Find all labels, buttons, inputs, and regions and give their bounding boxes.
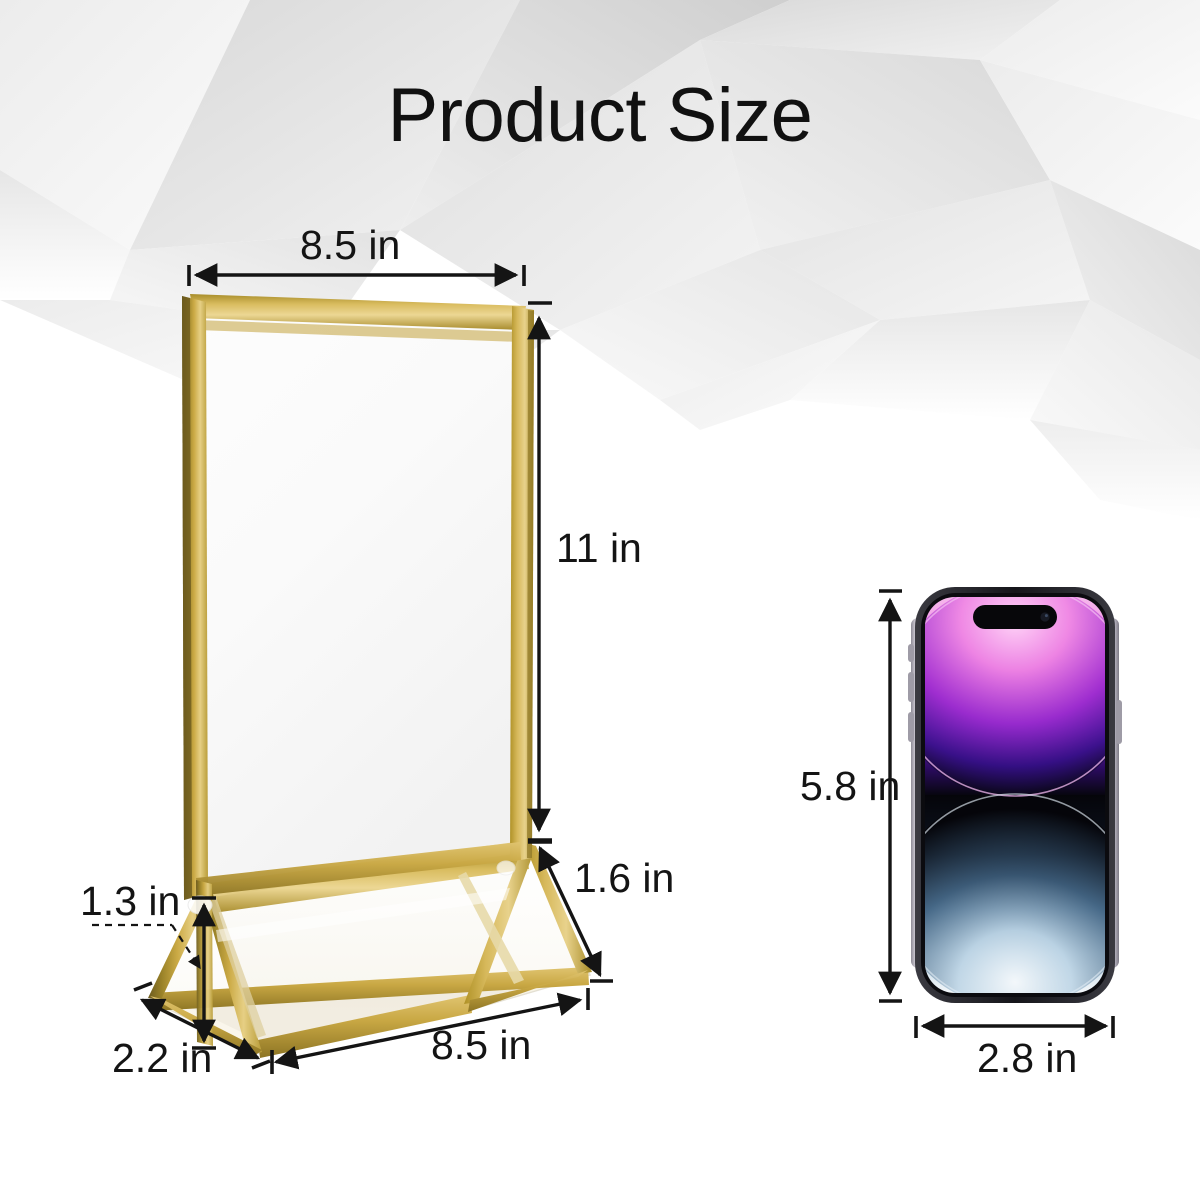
frame-right-rail-edge <box>527 310 534 858</box>
phone-button-power <box>1116 700 1122 744</box>
dimension-label-phone-height: 5.8 in <box>800 763 900 810</box>
dimension-label-frame-height: 11 in <box>556 525 642 572</box>
wallpaper-orb-bottom <box>897 792 1133 1008</box>
dimension-label-base-width: 8.5 in <box>431 1022 531 1069</box>
phone-button-volume-down <box>908 712 914 742</box>
tick-base-depth-start <box>134 983 152 990</box>
product-size-infographic: Product Size 8.5 in 11 in 1.6 in 1.3 in … <box>0 0 1200 1200</box>
dimension-label-base-slant-depth: 1.6 in <box>574 855 674 902</box>
phone-graphic <box>897 582 1133 1008</box>
dimension-label-frame-width: 8.5 in <box>300 222 400 269</box>
acrylic-panel <box>196 300 522 888</box>
product-illustration <box>0 0 1200 1200</box>
phone-button-mute <box>908 644 914 662</box>
page-title: Product Size <box>0 78 1200 154</box>
phone-button-volume-up <box>908 672 914 702</box>
front-camera-glint <box>1045 614 1048 617</box>
front-camera-icon <box>1040 612 1049 621</box>
dimension-label-base-depth: 2.2 in <box>112 1035 212 1082</box>
dimension-label-base-inner-height: 1.3 in <box>80 878 180 925</box>
phone-screen <box>897 582 1133 1008</box>
sign-holder-graphic <box>148 294 592 1058</box>
tick-base-depth-end <box>252 1061 270 1068</box>
base-corner-clip-right <box>497 861 515 875</box>
dimension-label-phone-width: 2.8 in <box>977 1035 1077 1082</box>
